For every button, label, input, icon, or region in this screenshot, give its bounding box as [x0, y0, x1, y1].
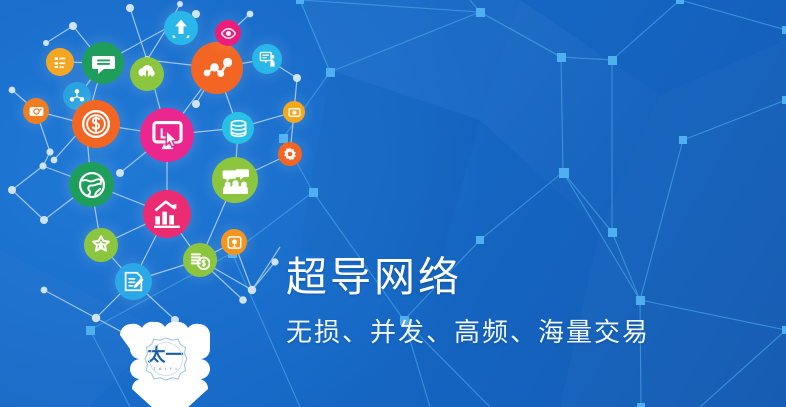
upload-icon-glyph: [171, 18, 191, 38]
logo-seal-ring-icon: [143, 336, 189, 382]
eye-icon[interactable]: [215, 20, 241, 46]
photo-badge-icon[interactable]: [221, 229, 247, 255]
cloud-download-icon-glyph: [137, 64, 157, 84]
camera-icon[interactable]: [23, 98, 49, 124]
page-title: 超导网络: [286, 252, 650, 302]
globe-icon[interactable]: [69, 162, 114, 207]
database-cloud-icon-glyph: [229, 119, 248, 138]
bar-chart-icon[interactable]: [143, 190, 191, 238]
taiyi-logo-badge[interactable]: 太一 T A I Y I: [108, 311, 223, 407]
presentation-icon[interactable]: [252, 44, 282, 74]
photo-badge-icon-glyph: [227, 235, 242, 250]
media-icon-glyph: [288, 106, 301, 119]
hero-text-block: 超导网络 无损、并发、高频、海量交易: [286, 252, 650, 349]
hero-banner: 超导网络 无损、并发、高频、海量交易 太一 T A I Y I: [0, 0, 786, 407]
chat-bubble-icon-glyph: [91, 51, 115, 75]
camera-icon-glyph: [29, 104, 44, 119]
star-badge-icon-glyph: [91, 235, 111, 255]
group-chat-icon[interactable]: [212, 157, 258, 203]
database-cloud-icon[interactable]: [222, 112, 254, 144]
chat-bubble-icon[interactable]: [82, 42, 124, 84]
gear-icon[interactable]: [278, 142, 302, 166]
list-icon[interactable]: [46, 48, 74, 76]
monitor-cursor-icon[interactable]: [140, 108, 194, 162]
upload-icon[interactable]: [164, 11, 198, 45]
media-icon[interactable]: [283, 101, 305, 123]
money-stack-icon[interactable]: [183, 243, 217, 277]
eye-icon-glyph: [221, 26, 236, 41]
list-icon-glyph: [52, 54, 68, 70]
logo-seal: 太一 T A I Y I: [143, 336, 189, 382]
cloud-download-icon[interactable]: [130, 57, 164, 91]
share-nodes-icon-glyph: [69, 88, 85, 104]
page-subtitle: 无损、并发、高频、海量交易: [286, 315, 650, 349]
logo-mark: 太一 T A I Y I: [108, 311, 223, 407]
document-edit-icon[interactable]: [115, 263, 152, 300]
star-badge-icon[interactable]: [84, 228, 118, 262]
money-stack-icon-glyph: [190, 250, 210, 270]
globe-icon-glyph: [79, 172, 105, 198]
gear-icon-glyph: [283, 147, 297, 161]
graph-trend-icon[interactable]: [191, 42, 243, 94]
presentation-icon-glyph: [259, 51, 276, 68]
coin-dollar-icon-glyph: [82, 110, 110, 138]
monitor-cursor-icon-glyph: [152, 120, 183, 151]
coin-dollar-icon[interactable]: [72, 100, 120, 148]
document-edit-icon-glyph: [123, 271, 144, 292]
group-chat-icon-glyph: [222, 167, 249, 194]
bar-chart-icon-glyph: [153, 200, 181, 228]
graph-trend-icon-glyph: [202, 53, 232, 83]
